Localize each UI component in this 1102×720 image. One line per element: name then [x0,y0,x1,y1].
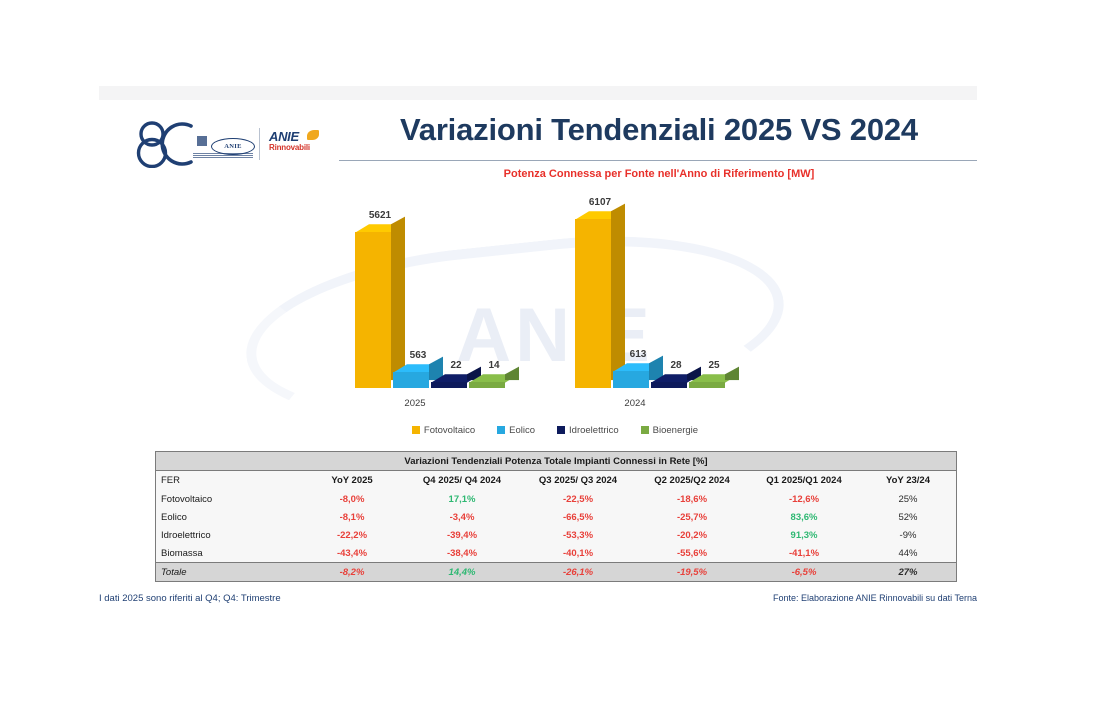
logo-divider [259,128,260,160]
table-total-row: Totale-8,2%14,4%-26,1%-19,5%-6,5%27% [156,563,956,582]
table-cell: -20,2% [636,526,748,544]
bar-bioenergie-2025 [469,374,519,388]
bar-plot: 562156322142025610761328252024 [155,196,955,411]
table-cell: -18,6% [636,490,748,508]
legend-item-idroelettrico[interactable]: Idroelettrico [557,425,619,436]
table-body: Fotovoltaico-8,0%17,1%-22,5%-18,6%-12,6%… [156,490,956,581]
table-cell: 83,6% [748,508,860,526]
legend-item-eolico[interactable]: Eolico [497,425,535,436]
chart-legend: FotovoltaicoEolicoIdroelettricoBioenergi… [155,422,955,438]
axis-category-label: 2024 [605,398,665,409]
table-cell: -41,1% [748,544,860,563]
table-cell: -8,0% [300,490,404,508]
header: ANIE ANIE Rinnovabili Variazioni Tendenz… [99,108,977,188]
bar-front-face [355,232,391,388]
table-total-cell: 14,4% [404,563,520,582]
footer-note: I dati 2025 sono riferiti al Q4; Q4: Tri… [99,593,281,604]
crest-icon [197,136,207,146]
legend-swatch-icon [497,426,505,434]
table-cell: 52% [860,508,956,526]
table-cell: -8,1% [300,508,404,526]
table-total-cell: -19,5% [636,563,748,582]
axis-category-label: 2025 [385,398,445,409]
bar-front-face [651,382,687,388]
legend-item-fotovoltaico[interactable]: Fotovoltaico [412,425,475,436]
table-cell: -38,4% [404,544,520,563]
table-cell: -12,6% [748,490,860,508]
table-row: Idroelettrico-22,2%-39,4%-53,3%-20,2%91,… [156,526,956,544]
anie-federation-logo: ANIE [193,131,255,161]
table-cell: -39,4% [404,526,520,544]
table-total-cell: 27% [860,563,956,582]
table-cell: -40,1% [520,544,636,563]
bar-value-label: 6107 [569,197,631,208]
table-total-label: Totale [156,563,300,582]
anie-rinnovabili-logo: ANIE Rinnovabili [269,130,329,158]
table-cell: -3,4% [404,508,520,526]
table-cell: 17,1% [404,490,520,508]
table-cell: -43,4% [300,544,404,563]
table-row-label: Fotovoltaico [156,490,300,508]
bar-fotovoltaico-2024 [575,211,625,388]
table-row-label: Eolico [156,508,300,526]
title-underline [339,160,977,161]
table-cell: -9% [860,526,956,544]
table-cell: -22,5% [520,490,636,508]
bar-bioenergie-2024 [689,374,739,388]
table-row-label: Idroelettrico [156,526,300,544]
page-title: Variazioni Tendenziali 2025 VS 2024 [339,112,979,148]
bar-front-face [613,371,649,388]
table-row: Fotovoltaico-8,0%17,1%-22,5%-18,6%-12,6%… [156,490,956,508]
table-col-3: Q3 2025/ Q3 2024 [520,471,636,491]
table-total-cell: -6,5% [748,563,860,582]
table-col-2: Q4 2025/ Q4 2024 [404,471,520,491]
table-row-label: Biomassa [156,544,300,563]
table-cell: 25% [860,490,956,508]
bar-value-label: 613 [607,349,669,360]
legend-swatch-icon [412,426,420,434]
table-caption-row: Variazioni Tendenziali Potenza Totale Im… [156,452,956,471]
table-row: Eolico-8,1%-3,4%-66,5%-25,7%83,6%52% [156,508,956,526]
bar-value-label: 14 [463,360,525,371]
table-col-1: YoY 2025 [300,471,404,491]
page-subtitle: Potenza Connessa per Fonte nell'Anno di … [339,168,979,180]
table-header-row: FERYoY 2025Q4 2025/ Q4 2024Q3 2025/ Q3 2… [156,471,956,491]
table-caption: Variazioni Tendenziali Potenza Totale Im… [156,452,956,471]
chart-area: ANIE 562156322142025610761328252024 Foto… [155,196,955,446]
table-cell: -25,7% [636,508,748,526]
legend-label: Eolico [509,425,535,436]
table-col-4: Q2 2025/Q2 2024 [636,471,748,491]
bar-front-face [689,382,725,388]
table-cell: 91,3% [748,526,860,544]
bar-front-face [469,382,505,388]
anie-rinnovabili-sub: Rinnovabili [269,143,329,152]
anie-rinnovabili-brand: ANIE [269,130,329,143]
bar-value-label: 25 [683,360,745,371]
footer-source: Fonte: Elaborazione ANIE Rinnovabili su … [773,593,977,603]
logo-group: ANIE ANIE Rinnovabili [131,120,316,172]
bar-front-face [431,382,467,388]
legend-label: Fotovoltaico [424,425,475,436]
table-cell: -22,2% [300,526,404,544]
table-col-6: YoY 23/24 [860,471,956,491]
legend-swatch-icon [641,426,649,434]
table-row: Biomassa-43,4%-38,4%-40,1%-55,6%-41,1%44… [156,544,956,563]
legend-item-bioenergie[interactable]: Bioenergie [641,425,698,436]
legend-label: Idroelettrico [569,425,619,436]
bar-value-label: 5621 [349,210,411,221]
federation-microtext [193,153,253,158]
table-cell: 44% [860,544,956,563]
legend-swatch-icon [557,426,565,434]
legend-label: Bioenergie [653,425,698,436]
table-col-fer: FER [156,471,300,491]
table-cell: -66,5% [520,508,636,526]
bar-front-face [575,219,611,388]
variations-table: Variazioni Tendenziali Potenza Totale Im… [155,451,957,582]
slide: ANIE ANIE Rinnovabili Variazioni Tendenz… [0,0,1102,720]
table-total-cell: -8,2% [300,563,404,582]
table-col-5: Q1 2025/Q1 2024 [748,471,860,491]
anie-oval-text: ANIE [224,143,241,150]
bar-front-face [393,372,429,388]
table-cell: -53,3% [520,526,636,544]
table-total-cell: -26,1% [520,563,636,582]
slide-top-band [99,86,977,100]
table-cell: -55,6% [636,544,748,563]
